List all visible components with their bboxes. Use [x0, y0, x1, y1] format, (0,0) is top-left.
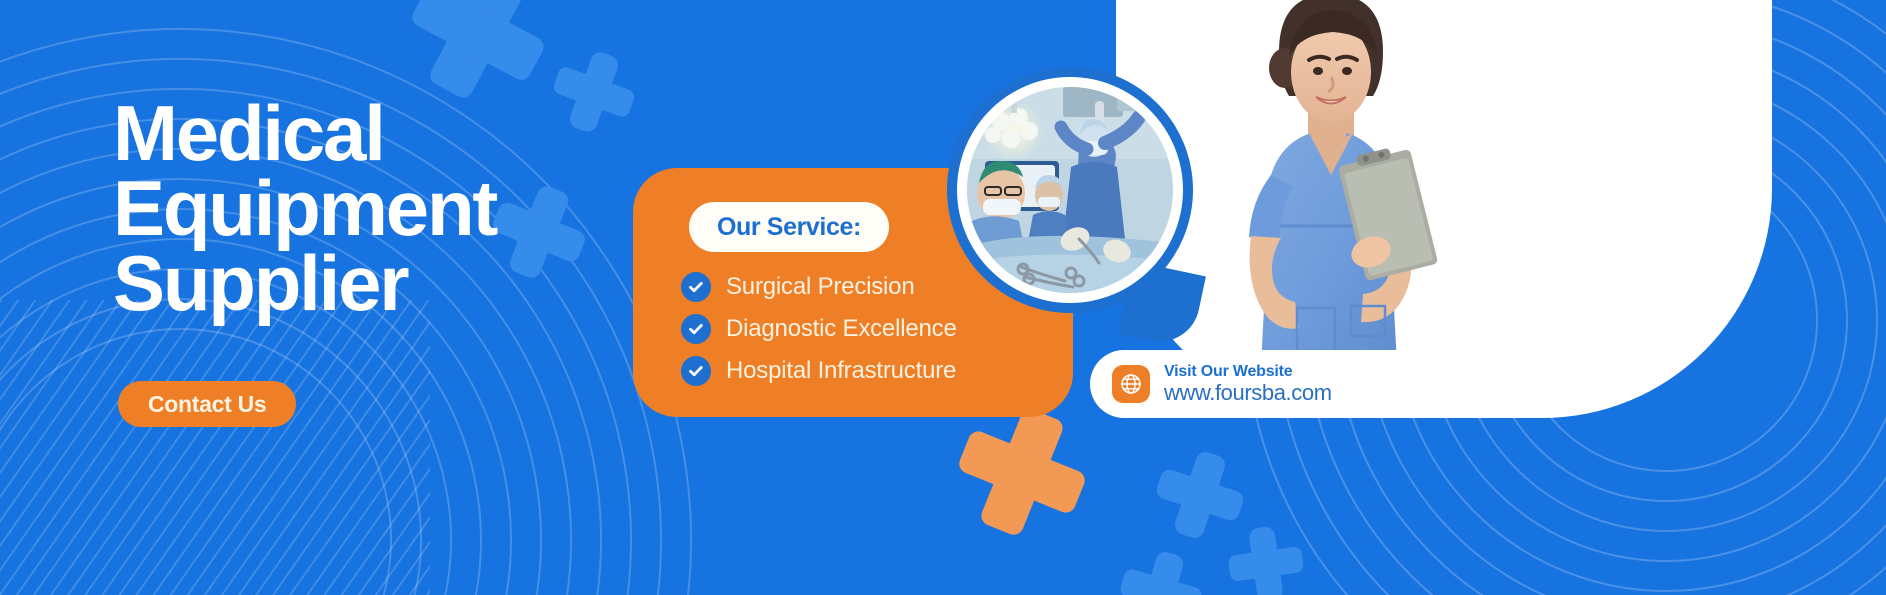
headline-line-1: Medical — [113, 96, 733, 171]
check-icon — [681, 314, 711, 344]
nurse-photo — [1175, 0, 1485, 370]
medical-cross-icon — [1137, 550, 1186, 595]
service-label: Surgical Precision — [726, 273, 914, 301]
medical-cross-icon — [1172, 449, 1227, 540]
our-service-pill: Our Service: — [689, 202, 889, 252]
surgery-photo — [967, 87, 1173, 293]
surgery-photo-inner-ring — [957, 77, 1183, 303]
globe-icon — [1112, 365, 1150, 403]
service-label: Diagnostic Excellence — [726, 315, 957, 343]
contact-us-button[interactable]: Contact Us — [118, 381, 296, 427]
website-badge[interactable]: Visit Our Website www.foursba.com — [1090, 350, 1430, 418]
diagonal-hatch-pattern — [0, 300, 430, 595]
medical-cross-icon — [978, 406, 1065, 537]
list-item[interactable]: Diagnostic Excellence — [681, 314, 957, 344]
medical-equipment-banner: Medical Equipment Supplier Contact Us Ou… — [0, 0, 1886, 595]
service-label: Hospital Infrastructure — [726, 357, 956, 385]
service-list: Surgical Precision Diagnostic Excellence… — [681, 272, 957, 398]
check-icon — [681, 272, 711, 302]
check-icon — [681, 356, 711, 386]
surgery-photo-ring — [947, 67, 1193, 313]
medical-cross-icon — [1248, 526, 1284, 595]
website-prompt: Visit Our Website — [1164, 363, 1332, 381]
list-item[interactable]: Surgical Precision — [681, 272, 957, 302]
medical-cross-icon — [427, 0, 530, 101]
list-item[interactable]: Hospital Infrastructure — [681, 356, 957, 386]
website-url[interactable]: www.foursba.com — [1164, 381, 1332, 406]
